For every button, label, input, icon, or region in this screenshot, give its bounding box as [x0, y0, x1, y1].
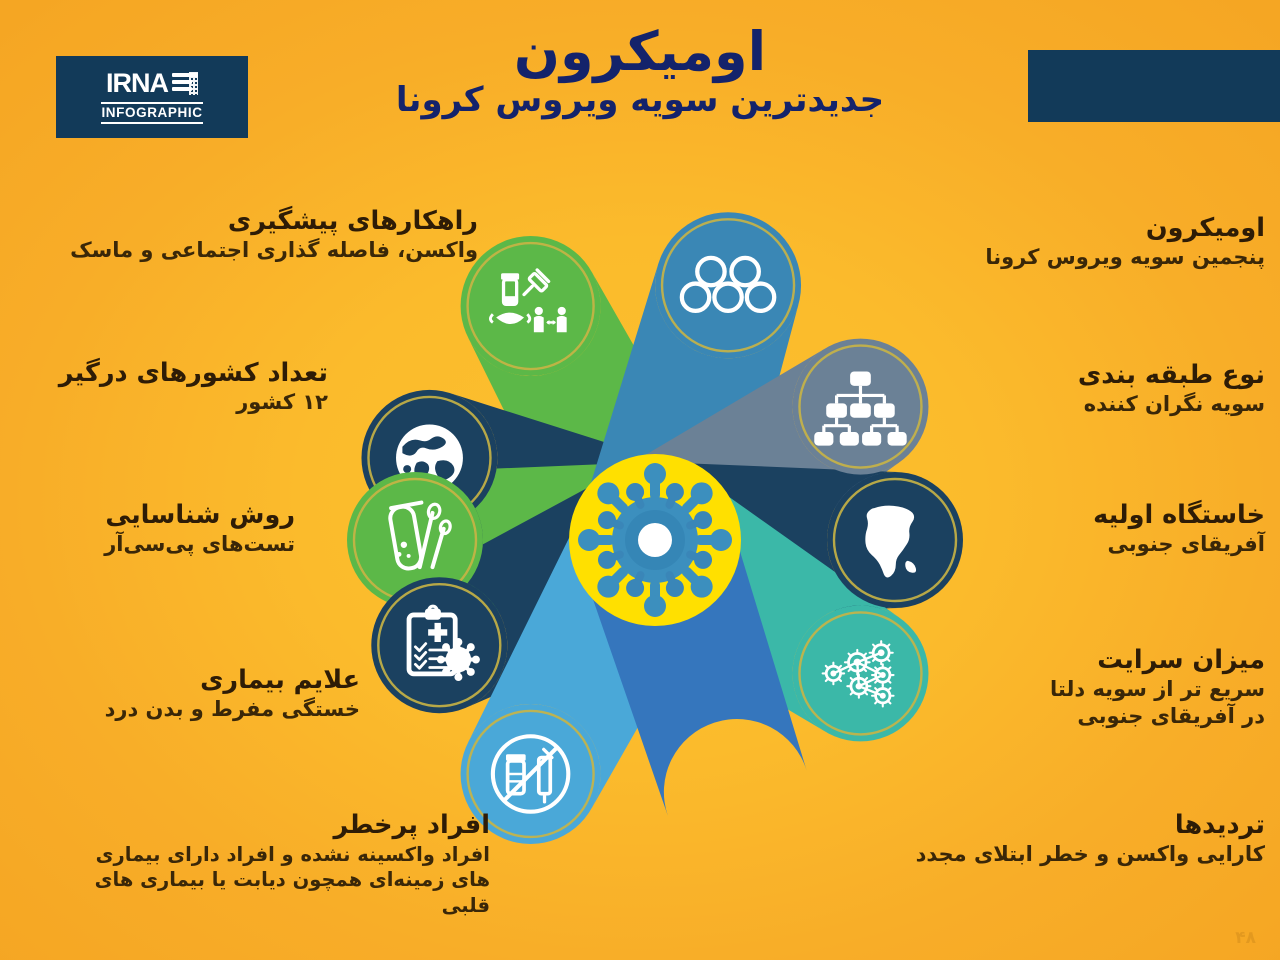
label-omicron-title: اومیکرون [785, 213, 1265, 244]
infographic-canvas: IRNA INFOGRAPHIC اومیکرون جدیدترین سویه … [0, 0, 1280, 960]
label-doubts: تردیدها کارایی واکسن و خطر ابتلای مجدد [795, 810, 1265, 868]
label-doubts-title: تردیدها [795, 810, 1265, 841]
bubble-disc [371, 577, 507, 713]
label-omicron: اومیکرون پنجمین سویه ویروس کرونا [785, 213, 1265, 271]
label-detection: روش شناسایی تست‌های پی‌سی‌آر [0, 500, 295, 558]
label-doubts-detail: کارایی واکسن و خطر ابتلای مجدد [795, 842, 1265, 868]
label-high-risk: افراد پرخطر افراد واکسینه نشده و افراد د… [70, 810, 490, 918]
bubble-prevention[interactable] [461, 236, 601, 376]
label-prevention-detail: واکسن، فاصله گذاری اجتماعی و ماسک [8, 238, 478, 264]
watermark: ۴۸ [1235, 928, 1256, 948]
label-high-risk-detail: افراد واکسینه نشده و افراد دارای بیماری … [70, 842, 490, 918]
label-symptoms-title: علایم بیماری [0, 665, 360, 696]
label-high-risk-title: افراد پرخطر [70, 810, 490, 841]
label-countries: تعداد کشورهای درگیر ۱۲ کشور [0, 358, 328, 416]
label-omicron-detail: پنجمین سویه ویروس کرونا [785, 245, 1265, 271]
label-symptoms-detail: خستگی مفرط و بدن درد [0, 697, 360, 723]
label-transmission-title: میزان سرایت [835, 645, 1265, 676]
label-symptoms: علایم بیماری خستگی مفرط و بدن درد [0, 665, 360, 723]
label-origin-title: خاستگاه اولیه [835, 500, 1265, 531]
label-transmission: میزان سرایت سریع تر از سویه دلتا در آفری… [835, 645, 1265, 729]
label-classification-detail: سویه نگران کننده [835, 392, 1265, 418]
coronavirus-icon [578, 463, 732, 617]
label-countries-detail: ۱۲ کشور [0, 390, 328, 416]
label-prevention-title: راهکارهای پیشگیری [8, 206, 478, 237]
bubble-omicron[interactable] [655, 212, 801, 358]
label-origin-detail: آفریقای جنوبی [835, 532, 1265, 558]
label-detection-detail: تست‌های پی‌سی‌آر [0, 532, 295, 558]
label-origin: خاستگاه اولیه آفریقای جنوبی [835, 500, 1265, 558]
label-transmission-detail: سریع تر از سویه دلتا [835, 677, 1265, 703]
label-classification-title: نوع طبقه بندی [835, 360, 1265, 391]
label-classification: نوع طبقه بندی سویه نگران کننده [835, 360, 1265, 418]
label-prevention: راهکارهای پیشگیری واکسن، فاصله گذاری اجت… [8, 206, 478, 264]
center-hub[interactable] [569, 454, 741, 626]
label-detection-title: روش شناسایی [0, 500, 295, 531]
bubble-symptoms[interactable] [371, 577, 507, 713]
label-countries-title: تعداد کشورهای درگیر [0, 358, 328, 389]
bubble-disc [461, 236, 601, 376]
label-transmission-detail2: در آفریقای جنوبی [835, 704, 1265, 730]
